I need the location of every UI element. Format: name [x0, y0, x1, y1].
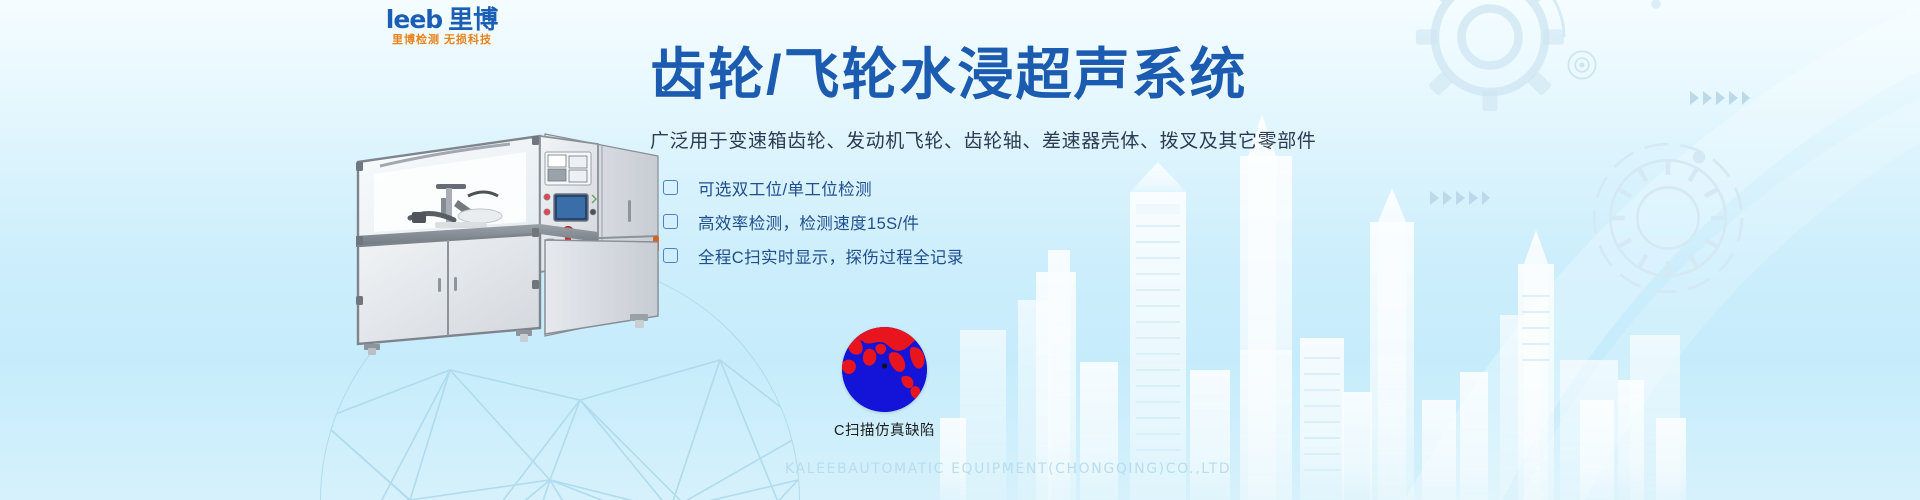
feature-label: 高效率检测，检测速度15S/件 — [698, 210, 919, 234]
product-photo-ultrasonic-machine — [340, 100, 700, 360]
logo-wordmark: leeb 里博 — [386, 7, 498, 33]
list-item[interactable]: 可选双工位/单工位检测 — [663, 171, 1830, 205]
checkbox-icon[interactable] — [663, 214, 678, 229]
checkbox-icon[interactable] — [663, 180, 678, 195]
cscan-caption: C扫描仿真缺陷 — [834, 419, 935, 440]
company-watermark: KALEEBAUTOMATIC EQUIPMENT(CHONGQING)CO.,… — [785, 461, 1231, 477]
cscan-defect-map — [842, 327, 927, 412]
cscan-figure: C扫描仿真缺陷 — [812, 327, 957, 447]
feature-label: 可选双工位/单工位检测 — [698, 176, 872, 200]
list-item[interactable]: 全程C扫实时显示，探伤过程全记录 — [663, 239, 1830, 273]
promo-banner: leeb 里博 里博检测 无损科技 — [0, 0, 1920, 500]
page-title: 齿轮/飞轮水浸超声系统 — [650, 46, 1830, 105]
logo-tagline: 里博检测 无损科技 — [392, 35, 492, 46]
feature-label: 全程C扫实时显示，探伤过程全记录 — [698, 244, 964, 268]
logo-text-en: leeb — [386, 7, 442, 32]
dot-decoration-icon — [1648, 0, 1664, 12]
hero-copy: 齿轮/飞轮水浸超声系统 广泛用于变速箱齿轮、发动机飞轮、齿轮轴、差速器壳体、拨叉… — [650, 46, 1830, 273]
feature-list: 可选双工位/单工位检测 高效率检测，检测速度15S/件 全程C扫实时显示，探伤过… — [650, 171, 1830, 273]
cscan-image — [842, 327, 927, 412]
brand-logo[interactable]: leeb 里博 里博检测 无损科技 — [347, 7, 537, 49]
checkbox-icon[interactable] — [663, 248, 678, 263]
list-item[interactable]: 高效率检测，检测速度15S/件 — [663, 205, 1830, 239]
hero-subtitle: 广泛用于变速箱齿轮、发动机飞轮、齿轮轴、差速器壳体、拨叉及其它零部件 — [650, 126, 1830, 153]
logo-text-cn: 里博 — [448, 8, 498, 33]
